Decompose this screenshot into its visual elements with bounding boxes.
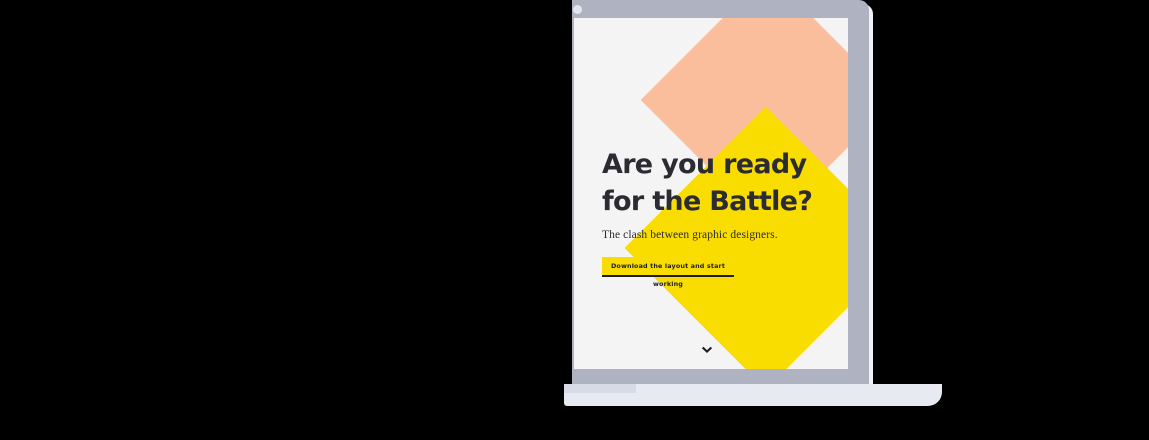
scene-stage: Are you ready for the Battle? The clash … <box>0 0 1149 440</box>
hero-subtitle: The clash between graphic designers. <box>602 228 848 242</box>
laptop-screen: Are you ready for the Battle? The clash … <box>574 18 848 369</box>
webcam-dot-icon <box>573 5 582 14</box>
hero-section: Are you ready for the Battle? The clash … <box>602 146 848 277</box>
scroll-down-chevron-down-icon[interactable] <box>700 343 714 357</box>
cta-wrapper: Download the layout and start working <box>602 257 734 277</box>
laptop-mockup: Are you ready for the Battle? The clash … <box>572 0 869 408</box>
laptop-hinge <box>572 370 869 384</box>
page-title: Are you ready for the Battle? <box>602 146 846 220</box>
laptop-base-notch <box>564 384 636 393</box>
download-layout-button[interactable]: Download the layout and start working <box>602 257 734 277</box>
